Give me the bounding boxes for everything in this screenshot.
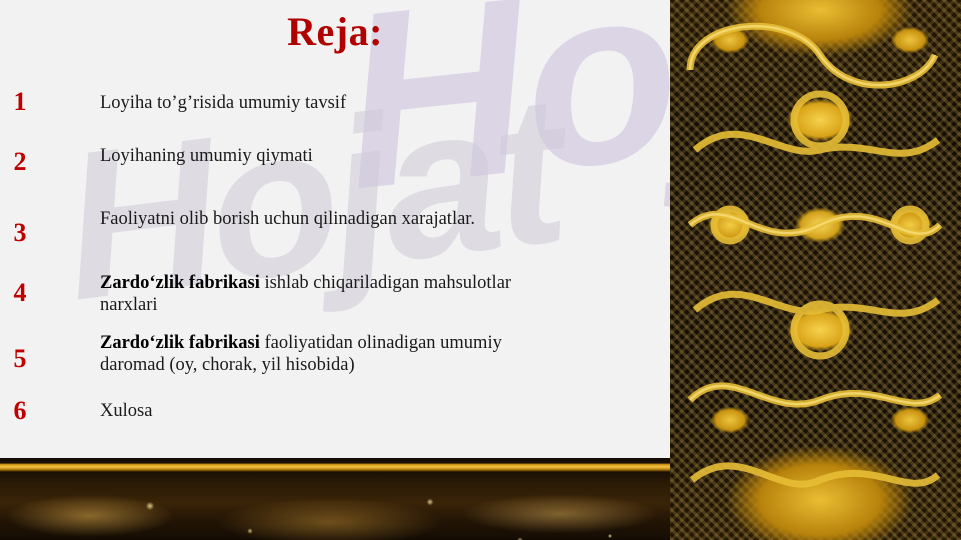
slide-title: Reja:: [0, 8, 670, 55]
list-item: 1 Loyiha to’g’risida umumiy tavsif: [100, 92, 346, 114]
list-item-text-span: Loyiha to’g’risida umumiy tavsif: [100, 93, 346, 113]
slide-content-area: Reja: 1 Loyiha to’g’risida umumiy tavsif…: [0, 0, 670, 460]
list-item: 3 Faoliyatni olib borish uchun qilinadig…: [100, 208, 520, 230]
list-item-number: 3: [0, 218, 40, 248]
list-item-text: Zardo‘zlik fabrikasi ishlab chiqariladig…: [100, 272, 540, 316]
list-item: 6 Xulosa: [100, 400, 152, 422]
list-item-text-span: Faoliyatni olib borish uchun qilinadigan…: [100, 209, 475, 229]
list-item-number: 1: [0, 87, 40, 117]
embroidery-scroll-icon: [670, 0, 961, 540]
gold-bokeh-band: [0, 458, 672, 540]
list-item-number: 6: [0, 396, 40, 426]
list-item-bold-prefix: Zardo‘zlik fabrikasi: [100, 273, 260, 293]
presentation-slide: Hojat Hojat Reja: 1 Loyiha to’g’risida u…: [0, 0, 961, 540]
list-item-text: Zardo‘zlik fabrikasi faoliyatidan olinad…: [100, 332, 560, 376]
list-item: 5 Zardo‘zlik fabrikasi faoliyatidan olin…: [100, 332, 560, 376]
list-item-text-span: Loyihaning umumiy qiymati: [100, 146, 313, 166]
band-glow-decoration: [0, 476, 672, 540]
list-item-text: Faoliyatni olib borish uchun qilinadigan…: [100, 208, 520, 230]
gold-embroidery-image: [670, 0, 961, 540]
list-item-text-span: Xulosa: [100, 401, 152, 421]
list-item-bold-prefix: Zardo‘zlik fabrikasi: [100, 333, 260, 353]
list-item-text: Loyiha to’g’risida umumiy tavsif: [100, 92, 346, 114]
list-item: 2 Loyihaning umumiy qiymati: [100, 145, 313, 167]
list-item-text: Xulosa: [100, 400, 152, 422]
list-item-number: 4: [0, 278, 40, 308]
list-item-number: 5: [0, 344, 40, 374]
list-item-text: Loyihaning umumiy qiymati: [100, 145, 313, 167]
list-item-number: 2: [0, 147, 40, 177]
list-item: 4 Zardo‘zlik fabrikasi ishlab chiqarilad…: [100, 272, 540, 316]
